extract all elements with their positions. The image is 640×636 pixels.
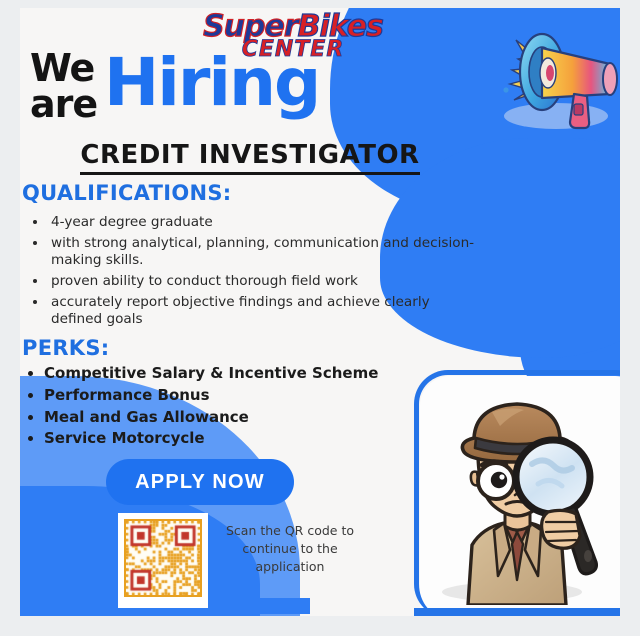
job-title-text: CREDIT INVESTIGATOR bbox=[80, 140, 419, 175]
perk-item: Performance Bonus bbox=[44, 385, 448, 407]
perk-item: Service Motorcycle bbox=[44, 428, 448, 450]
poster-root: SuperBikes CENTER bbox=[0, 0, 640, 636]
apply-now-button[interactable]: APPLY NOW bbox=[106, 459, 294, 505]
qr-code-canvas bbox=[126, 521, 200, 595]
qualification-item: with strong analytical, planning, commun… bbox=[48, 235, 479, 270]
job-title: CREDIT INVESTIGATOR bbox=[0, 140, 500, 170]
qualification-item: proven ability to conduct thorough field… bbox=[48, 273, 479, 291]
qualification-item: accurately report objective findings and… bbox=[48, 294, 479, 329]
qualifications-list: 4-year degree graduate with strong analy… bbox=[34, 214, 479, 332]
perks-heading: PERKS: bbox=[22, 336, 110, 360]
headline-hiring: Hiring bbox=[104, 52, 319, 115]
qualifications-heading: QUALIFICATIONS: bbox=[22, 181, 232, 205]
megaphone-icon bbox=[470, 18, 630, 136]
perk-item: Competitive Salary & Incentive Scheme bbox=[44, 363, 448, 385]
qr-code-caption: Scan the QR code to continue to the appl… bbox=[215, 522, 365, 576]
perk-item: Meal and Gas Allowance bbox=[44, 407, 448, 429]
headline-line-we: We bbox=[30, 50, 94, 86]
detective-magnifier-icon bbox=[420, 380, 615, 605]
perks-list: Competitive Salary & Incentive Scheme Pe… bbox=[28, 363, 448, 450]
headline-line-are: are bbox=[30, 86, 97, 122]
qr-code-icon[interactable] bbox=[124, 519, 202, 597]
qualification-item: 4-year degree graduate bbox=[48, 214, 479, 232]
